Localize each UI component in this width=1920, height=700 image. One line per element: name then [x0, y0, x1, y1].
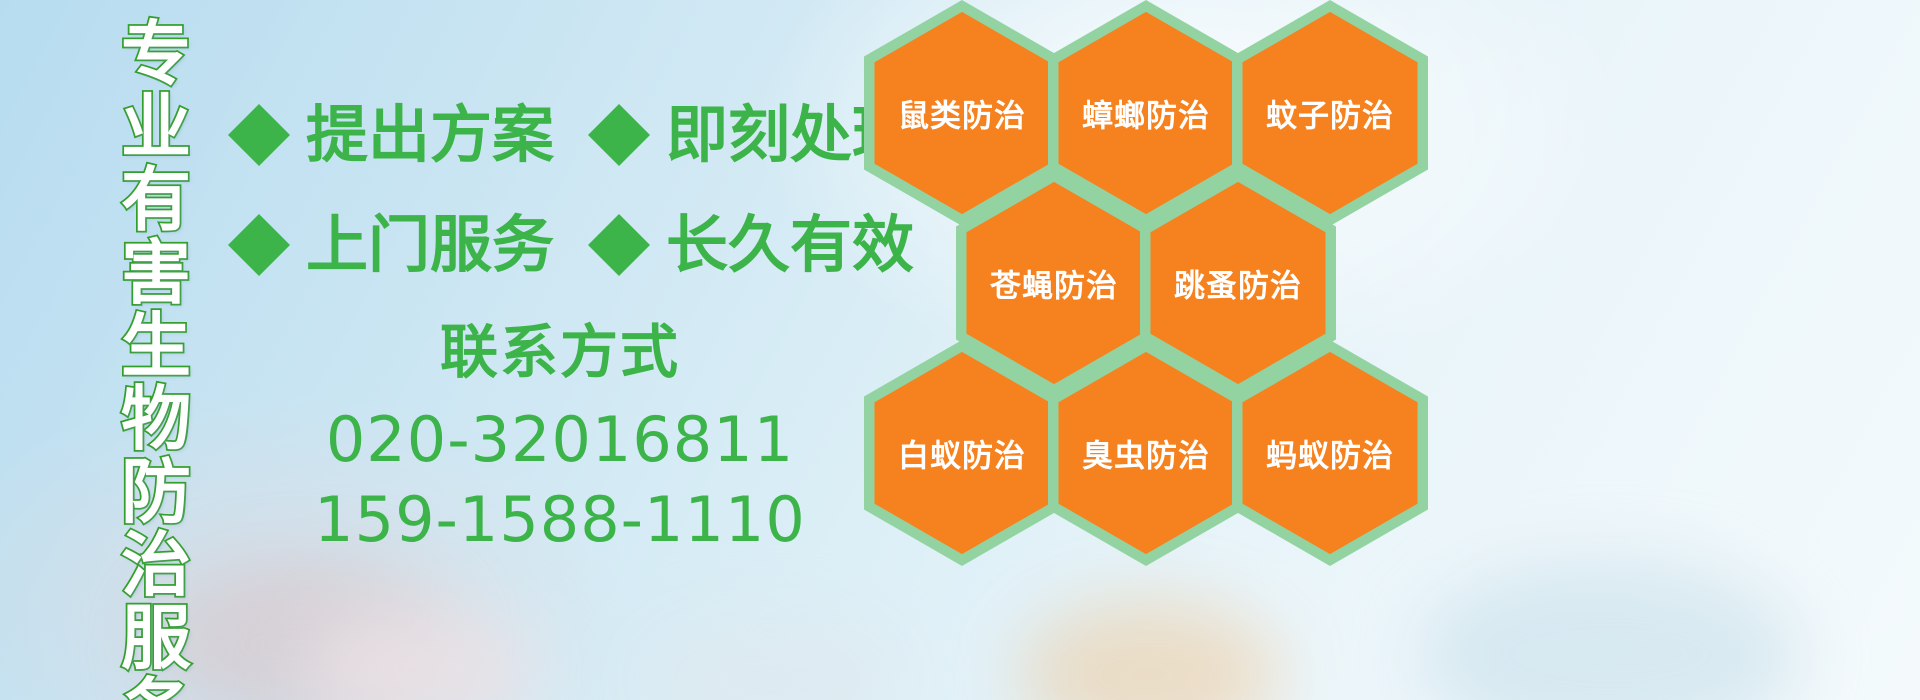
feature-row: 上门服务 长久有效 — [228, 190, 868, 300]
phone-mobile[interactable]: 159-1588-1110 — [300, 480, 820, 559]
service-hex-label: 蚂蚁防治 — [1232, 431, 1428, 476]
vertical-headline-char: 务 — [121, 675, 191, 700]
vertical-headline-char: 物 — [121, 383, 191, 456]
feature-row: 提出方案 即刻处理 — [228, 80, 868, 190]
service-hex-label: 跳蚤防治 — [1140, 261, 1336, 306]
vertical-headline-char: 服 — [121, 602, 191, 675]
promo-banner: 专 业 有 害 生 物 防 治 服 务 提出方案 即刻处理 上门服务 — [0, 0, 1920, 700]
vertical-headline-char: 治 — [121, 529, 191, 602]
service-hex-label: 苍蝇防治 — [956, 261, 1152, 306]
diamond-icon — [588, 183, 650, 245]
vertical-headline-char: 业 — [121, 91, 191, 164]
vertical-headline-char: 专 — [121, 18, 191, 91]
vertical-headline-char: 有 — [121, 164, 191, 237]
vertical-headline-char: 防 — [121, 456, 191, 529]
feature-item-onsite-service: 上门服务 — [228, 214, 554, 276]
service-hex-label: 蟑螂防治 — [1048, 91, 1244, 136]
vertical-headline: 专 业 有 害 生 物 防 治 服 务 — [108, 18, 204, 682]
background-blob — [1420, 560, 1800, 700]
contact-block: 联系方式 020-32016811 159-1588-1110 — [300, 318, 820, 559]
feature-label: 上门服务 — [306, 214, 554, 276]
background-blob — [1020, 600, 1280, 700]
feature-label: 提出方案 — [306, 104, 554, 166]
feature-list: 提出方案 即刻处理 上门服务 长久有效 — [228, 80, 868, 300]
service-hexagon-grid: 鼠类防治 蟑螂防治 蚊子防治 苍蝇防治 跳蚤防治 白蚁防治 — [858, 0, 1478, 544]
service-hex-label: 蚊子防治 — [1232, 91, 1428, 136]
service-hex-label: 鼠类防治 — [864, 91, 1060, 136]
vertical-headline-char: 生 — [121, 310, 191, 383]
background-blob — [640, 620, 900, 700]
background-blob — [300, 600, 540, 700]
vertical-headline-char: 害 — [121, 237, 191, 310]
service-hex-termite[interactable]: 白蚁防治 — [864, 340, 1060, 566]
service-hex-label: 臭虫防治 — [1048, 431, 1244, 476]
diamond-icon — [588, 73, 650, 135]
service-hex-label: 白蚁防治 — [864, 431, 1060, 476]
feature-item-propose-plan: 提出方案 — [228, 104, 554, 166]
diamond-icon — [228, 73, 290, 135]
contact-heading: 联系方式 — [300, 318, 820, 386]
phone-landline[interactable]: 020-32016811 — [300, 400, 820, 479]
diamond-icon — [228, 183, 290, 245]
service-hex-bedbug[interactable]: 臭虫防治 — [1048, 340, 1244, 566]
service-hex-ant[interactable]: 蚂蚁防治 — [1232, 340, 1428, 566]
